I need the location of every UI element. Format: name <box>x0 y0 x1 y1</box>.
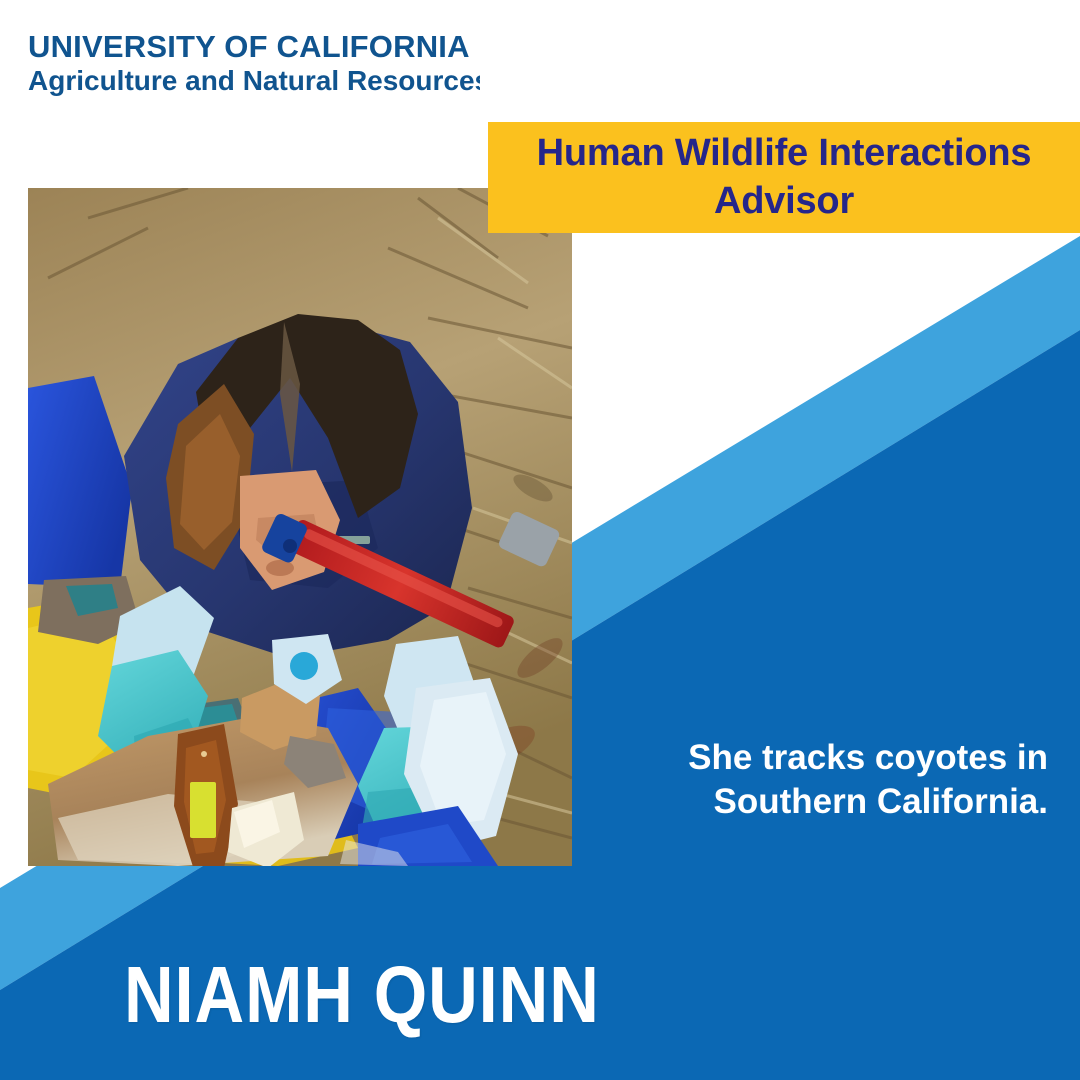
photo-eye-cover-dot <box>290 652 318 680</box>
tagline: She tracks coyotes in Southern Californi… <box>578 736 1048 825</box>
logo-line-university: UNIVERSITY OF CALIFORNIA <box>28 30 480 65</box>
tagline-line1: She tracks coyotes in <box>688 738 1048 777</box>
photo-collar-yellow-tag <box>190 782 216 838</box>
photo-illustration <box>28 188 572 866</box>
photo-nose <box>266 560 294 576</box>
researcher-coyote-photo <box>28 188 572 866</box>
photo-collar-rivet <box>201 751 207 757</box>
profile-card: UNIVERSITY OF CALIFORNIA Agriculture and… <box>0 0 1080 1080</box>
person-name: NIAMH QUINN <box>124 955 600 1035</box>
role-title-line1: Human Wildlife Interactions <box>537 132 1032 174</box>
tagline-line2: Southern California. <box>714 782 1048 821</box>
logo-line-division: Agriculture and Natural Resources <box>28 65 480 97</box>
uc-anr-logo: UNIVERSITY OF CALIFORNIA Agriculture and… <box>28 30 480 97</box>
role-title-line2: Advisor <box>714 180 854 222</box>
role-title: Human Wildlife Interactions Advisor <box>488 130 1080 225</box>
